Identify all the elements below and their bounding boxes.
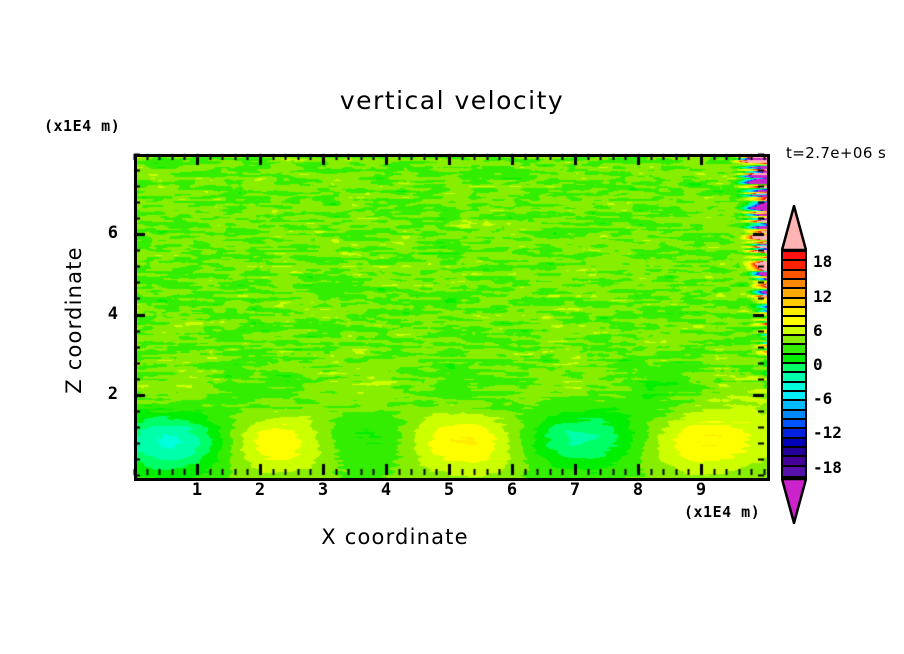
x-tick-label: 4 [371, 480, 401, 500]
colorbar-tick-label: 0 [813, 355, 823, 374]
colorbar-band [783, 429, 805, 438]
colorbar-band [783, 336, 805, 345]
colorbar-tick-label: 6 [813, 321, 823, 340]
colorbar: 181260-6-12-18 [781, 205, 807, 523]
x-tick-label: 7 [560, 480, 590, 500]
colorbar-band [783, 364, 805, 373]
x-tick-label: 9 [686, 480, 716, 500]
y-tick-label: 2 [96, 384, 118, 404]
y-tick-label: 4 [96, 304, 118, 324]
y-axis-title: Z coordinate [62, 220, 86, 420]
colorbar-band [783, 355, 805, 364]
colorbar-tick-label: -18 [813, 458, 842, 477]
colorbar-band [783, 271, 805, 280]
contour-plot-area [134, 154, 770, 481]
x-tick-label: 3 [308, 480, 338, 500]
colorbar-tick-label: -12 [813, 423, 842, 442]
x-axis-units-label: (x1E4 m) [684, 503, 760, 521]
colorbar-band [783, 308, 805, 317]
colorbar-band [783, 457, 805, 466]
colorbar-band [783, 392, 805, 401]
page-title: vertical velocity [0, 86, 904, 115]
colorbar-band [783, 317, 805, 326]
colorbar-band [783, 420, 805, 429]
x-tick-label: 8 [623, 480, 653, 500]
colorbar-band [783, 439, 805, 448]
y-tick-label: 6 [96, 223, 118, 243]
colorbar-band [783, 280, 805, 289]
colorbar-tick-label: 12 [813, 287, 832, 306]
contour-field [137, 157, 767, 478]
colorbar-band [783, 401, 805, 410]
colorbar-band [783, 299, 805, 308]
x-tick-label: 6 [497, 480, 527, 500]
colorbar-band [783, 467, 805, 476]
colorbar-band [783, 345, 805, 354]
figure-canvas: vertical velocity (x1E4 m) t=2.7e+06 s X… [0, 0, 904, 654]
x-tick-label: 5 [434, 480, 464, 500]
colorbar-bands [781, 250, 807, 478]
colorbar-tick-label: -6 [813, 389, 832, 408]
y-axis-units-label: (x1E4 m) [44, 117, 120, 135]
x-tick-label: 2 [245, 480, 275, 500]
colorbar-band [783, 383, 805, 392]
colorbar-band [783, 261, 805, 270]
colorbar-band [783, 411, 805, 420]
colorbar-over-cap [781, 205, 807, 250]
colorbar-band [783, 327, 805, 336]
colorbar-under-cap [781, 478, 807, 523]
colorbar-band [783, 252, 805, 261]
colorbar-band [783, 373, 805, 382]
time-annotation: t=2.7e+06 s [786, 144, 886, 162]
colorbar-band [783, 448, 805, 457]
colorbar-tick-label: 18 [813, 252, 832, 271]
x-tick-label: 1 [182, 480, 212, 500]
colorbar-band [783, 289, 805, 298]
x-axis-title: X coordinate [0, 525, 790, 549]
